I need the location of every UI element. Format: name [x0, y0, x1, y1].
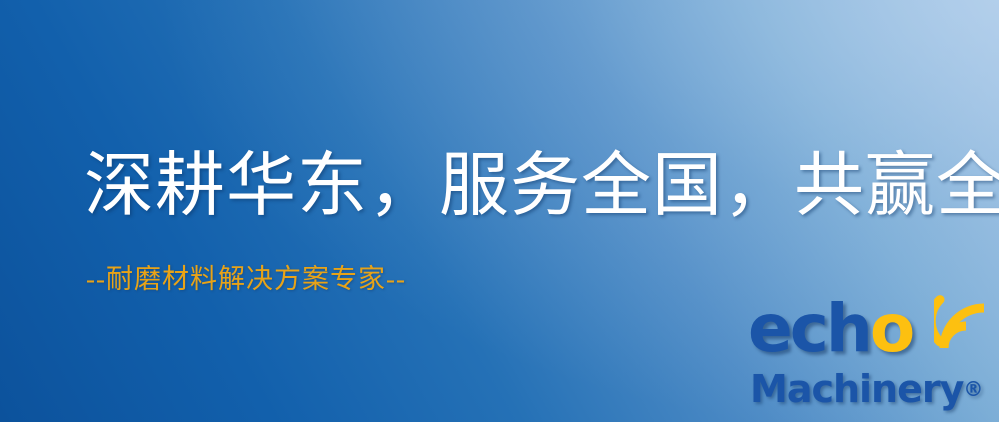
logo-subtext: Machinery® [750, 370, 983, 408]
signal-waves-icon [934, 292, 998, 352]
banner-subtitle: --耐磨材料解决方案专家-- [86, 266, 406, 293]
logo-wordmark-o: o [870, 290, 912, 367]
banner-headline: 深耕华东，服务全国，共赢全球 [84, 152, 999, 222]
logo-subtext-label: Machinery [750, 367, 963, 411]
registered-trademark-icon: ® [963, 377, 983, 401]
company-logo[interactable]: echo Machinery® [748, 296, 996, 418]
logo-wordmark-text: ech [748, 290, 870, 367]
hero-banner: 深耕华东，服务全国，共赢全球 --耐磨材料解决方案专家-- echo Machi… [0, 0, 999, 422]
logo-wordmark: echo [748, 296, 912, 362]
